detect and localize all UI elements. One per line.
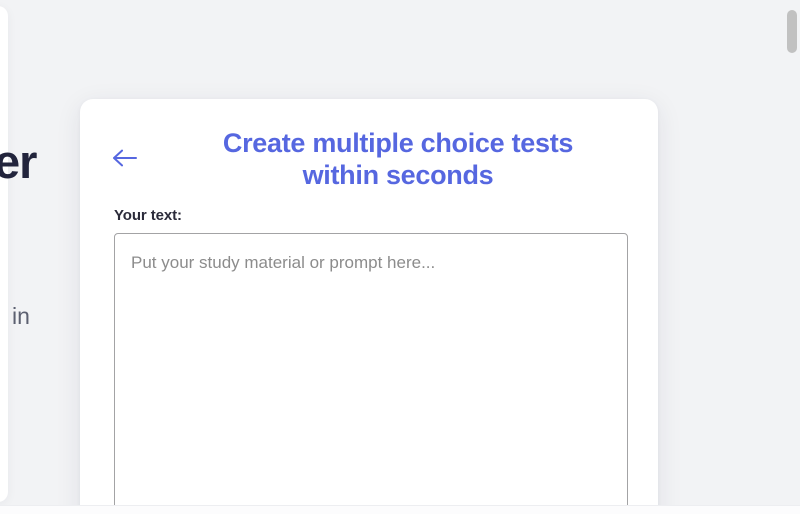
- page-title: Create multiple choice tests within seco…: [172, 127, 624, 191]
- create-test-modal: Create multiple choice tests within seco…: [80, 99, 658, 514]
- scrollbar-thumb[interactable]: [787, 10, 797, 53]
- arrow-left-icon: [112, 148, 138, 168]
- study-material-textarea[interactable]: [114, 233, 628, 514]
- page-bottom-strip: [0, 505, 800, 514]
- modal-header: Create multiple choice tests within seco…: [80, 99, 658, 207]
- back-button[interactable]: [108, 143, 142, 173]
- page-title-line-2: within seconds: [172, 159, 624, 191]
- background-body-fragment: in: [12, 303, 30, 331]
- left-panel-edge: [0, 6, 8, 502]
- page-title-line-1: Create multiple choice tests: [172, 127, 624, 159]
- modal-body: Your text:: [80, 207, 658, 514]
- your-text-label: Your text:: [114, 207, 624, 224]
- page-scrollbar[interactable]: [784, 0, 800, 514]
- background-heading-fragment: er: [0, 137, 36, 186]
